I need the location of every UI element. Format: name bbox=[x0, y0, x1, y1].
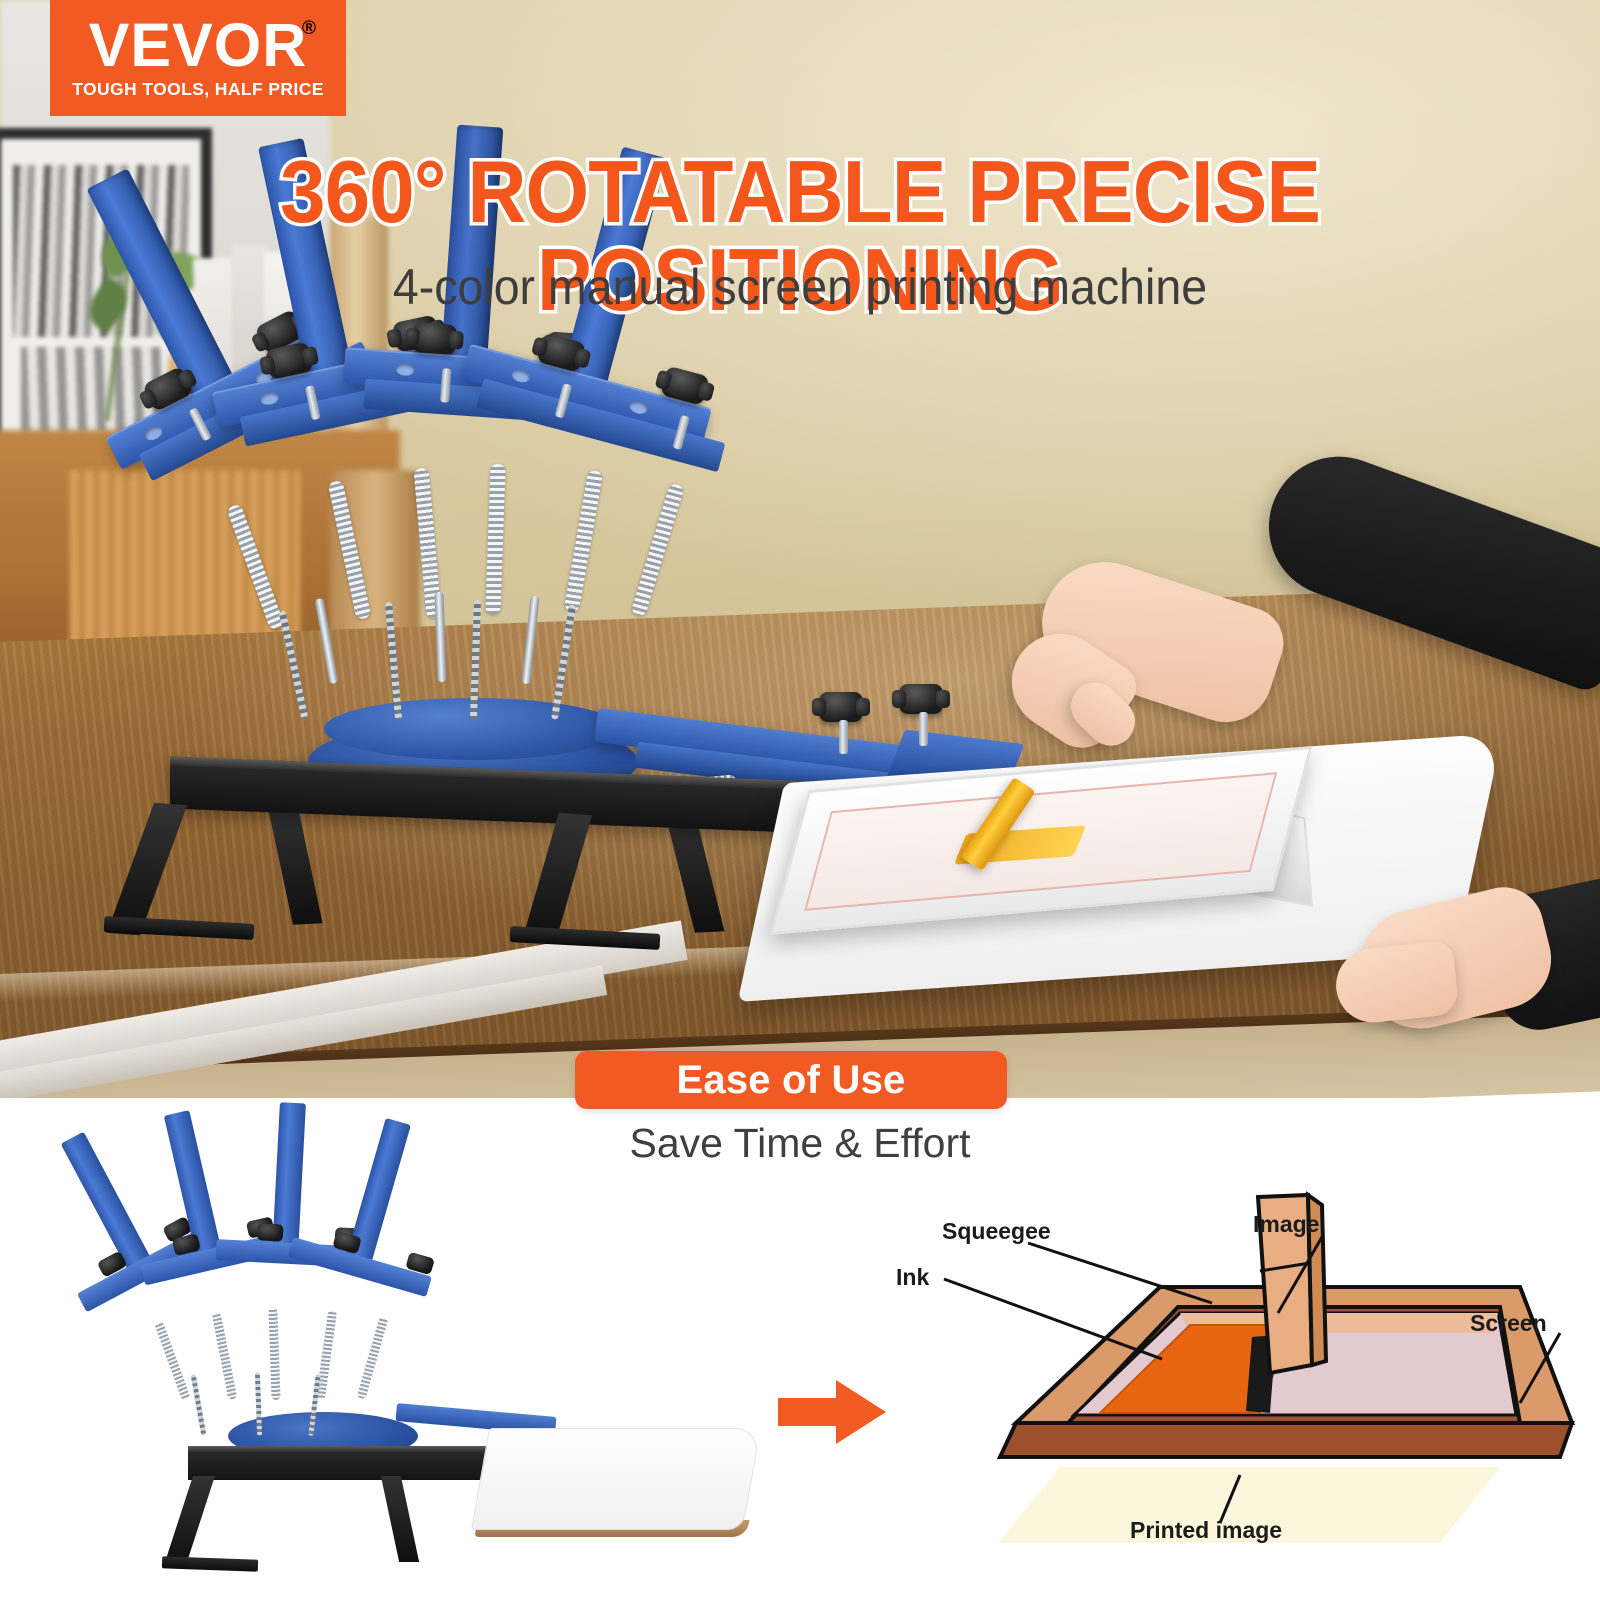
tension-chain bbox=[279, 610, 309, 719]
tension-spring bbox=[630, 483, 684, 617]
diagram-label-screen: Screen bbox=[1470, 1310, 1547, 1337]
machine-foot bbox=[104, 916, 255, 940]
clamp-knob bbox=[819, 692, 863, 722]
clamp-knob bbox=[257, 1223, 284, 1241]
tension-spring bbox=[268, 1308, 280, 1400]
machine-foot bbox=[510, 926, 661, 950]
page-subtitle: 4-color manual screen printing machine bbox=[56, 258, 1544, 316]
diagram-label-squeegee: Squeegee bbox=[942, 1218, 1051, 1245]
turnbuckle-rod bbox=[434, 592, 446, 682]
diagram-label-ink: Ink bbox=[896, 1264, 929, 1291]
clamp-hole bbox=[396, 363, 415, 376]
clamp-bolt bbox=[919, 712, 928, 746]
diagram-label-image: Image bbox=[1253, 1211, 1319, 1238]
clamp-knob bbox=[899, 684, 943, 714]
clamp-hole bbox=[143, 424, 164, 443]
tension-chain bbox=[255, 1372, 262, 1436]
status-badge: Ease of Use bbox=[575, 1051, 1007, 1109]
tension-chain bbox=[385, 602, 402, 720]
tension-spring bbox=[212, 1312, 238, 1400]
clamp-hole bbox=[259, 391, 279, 406]
product-shot-white-background bbox=[60, 1160, 760, 1580]
clamp-hole bbox=[511, 368, 531, 384]
clamp-hole bbox=[628, 399, 648, 415]
tension-chain bbox=[551, 604, 576, 720]
printing-pallet bbox=[471, 1428, 761, 1530]
machine-leg bbox=[107, 803, 187, 935]
tension-spring bbox=[485, 464, 505, 614]
turnbuckle-rod bbox=[521, 596, 539, 684]
arrow-right-icon bbox=[778, 1380, 886, 1444]
product-marketing-image: VEVOR ® TOUGH TOOLS, HALF PRICE 360° ROT… bbox=[0, 0, 1600, 1600]
machine-leg bbox=[163, 1476, 215, 1568]
machine-leg bbox=[522, 813, 592, 943]
tension-spring bbox=[154, 1321, 191, 1401]
turnbuckle-rod bbox=[315, 598, 339, 684]
tension-chain bbox=[191, 1374, 207, 1436]
diagram-label-printed-image: Printed image bbox=[1130, 1517, 1282, 1544]
logo-wordmark: VEVOR bbox=[89, 16, 308, 75]
machine-leg bbox=[267, 803, 322, 925]
tension-spring bbox=[226, 503, 285, 630]
tension-spring bbox=[357, 1316, 389, 1399]
tension-spring bbox=[564, 470, 603, 612]
machine-foot bbox=[162, 1556, 258, 1571]
machine-leg bbox=[665, 813, 724, 933]
machine-leg bbox=[381, 1476, 419, 1562]
registered-trademark-icon: ® bbox=[302, 18, 366, 40]
tension-spring bbox=[328, 480, 372, 620]
clamp-bolt bbox=[839, 720, 848, 754]
badge-label: Ease of Use bbox=[677, 1058, 906, 1103]
logo-tagline: TOUGH TOOLS, HALF PRICE bbox=[72, 79, 324, 100]
leader-line-squeegee bbox=[1028, 1243, 1212, 1303]
clamp-knob bbox=[411, 322, 457, 355]
vevor-logo: VEVOR ® TOUGH TOOLS, HALF PRICE bbox=[50, 0, 346, 116]
screen-frame-bottom bbox=[1000, 1423, 1572, 1457]
badge-subtitle: Save Time & Effort bbox=[0, 1120, 1600, 1167]
